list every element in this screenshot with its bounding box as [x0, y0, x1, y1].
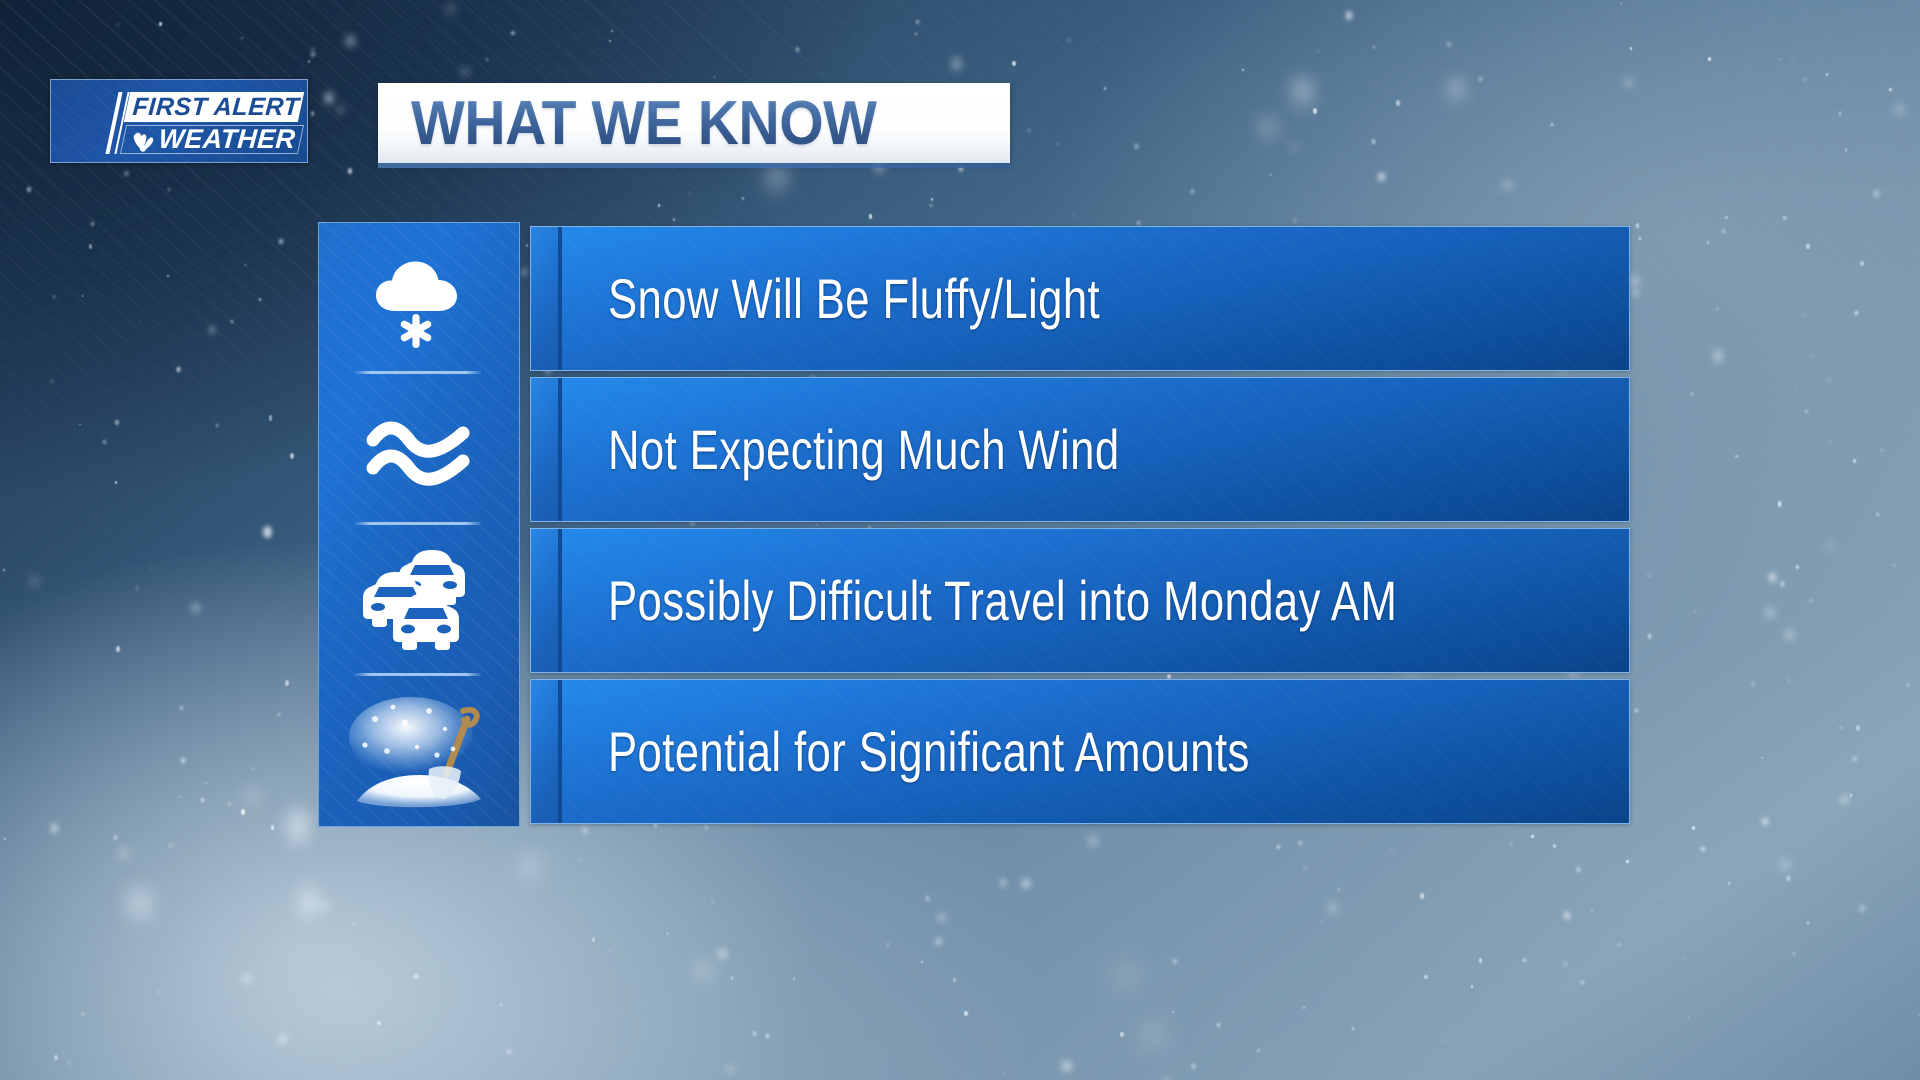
list-item-label: Not Expecting Much Wind: [608, 417, 1120, 482]
wind-waves-icon: [363, 413, 475, 487]
row-body: Snow Will Be Fluffy/Light: [562, 227, 1629, 370]
row-body: Possibly Difficult Travel into Monday AM: [562, 529, 1629, 672]
list-item-label: Potential for Significant Amounts: [608, 719, 1250, 784]
title-banner: WHAT WE KNOW: [378, 83, 1010, 163]
icon-column: [318, 222, 520, 827]
nbc-peacock-icon: [130, 129, 156, 152]
icon-cell-shovel: [319, 676, 518, 827]
row-accent-bar: [531, 529, 558, 672]
what-we-know-list: Snow Will Be Fluffy/Light Not Expecting …: [318, 222, 1630, 827]
title-underline: [378, 163, 1010, 168]
list-item[interactable]: Possibly Difficult Travel into Monday AM: [530, 528, 1630, 673]
traffic-cars-icon: [360, 548, 478, 654]
row-accent-bar: [531, 227, 558, 370]
logo-first-alert-text: FIRST ALERT: [134, 94, 298, 120]
row-accent-bar: [531, 680, 558, 823]
list-item[interactable]: Potential for Significant Amounts: [530, 679, 1630, 824]
row-body: Potential for Significant Amounts: [562, 680, 1629, 823]
list-item-label: Snow Will Be Fluffy/Light: [608, 266, 1100, 331]
icon-cell-wind: [319, 374, 518, 525]
row-body: Not Expecting Much Wind: [562, 378, 1629, 521]
icon-cell-snow: [319, 223, 518, 374]
list-item[interactable]: Not Expecting Much Wind: [530, 377, 1630, 522]
list-item[interactable]: Snow Will Be Fluffy/Light: [530, 226, 1630, 371]
list-item-label: Possibly Difficult Travel into Monday AM: [608, 568, 1397, 633]
row-accent-bar: [531, 378, 558, 521]
logo-weather-text: WEATHER: [155, 125, 299, 154]
first-alert-weather-logo: FIRST ALERT WEATHER: [50, 79, 308, 163]
snow-cloud-icon: [367, 249, 471, 349]
snow-shovel-icon: [341, 689, 497, 815]
page-title: WHAT WE KNOW: [411, 88, 876, 159]
icon-cell-traffic: [319, 525, 518, 676]
